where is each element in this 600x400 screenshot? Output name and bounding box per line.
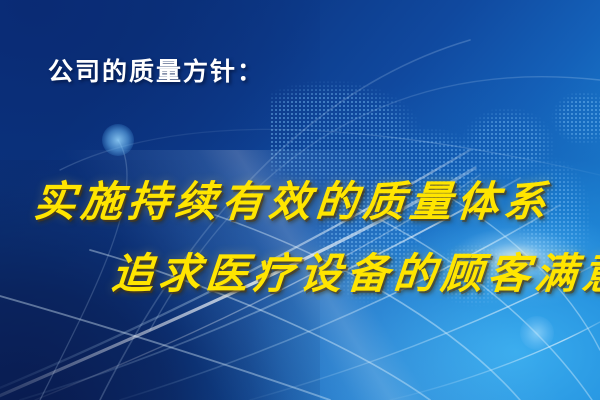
policy-line-1: 实施持续有效的质量体系 [31, 168, 553, 229]
text-layer: 公司的质量方针： 实施持续有效的质量体系 追求医疗设备的顾客满意 [0, 0, 600, 400]
page-title: 公司的质量方针： [48, 52, 264, 88]
policy-line-2: 追求医疗设备的顾客满意 [109, 240, 600, 301]
quality-policy-slide: 公司的质量方针： 实施持续有效的质量体系 追求医疗设备的顾客满意 [0, 0, 600, 400]
